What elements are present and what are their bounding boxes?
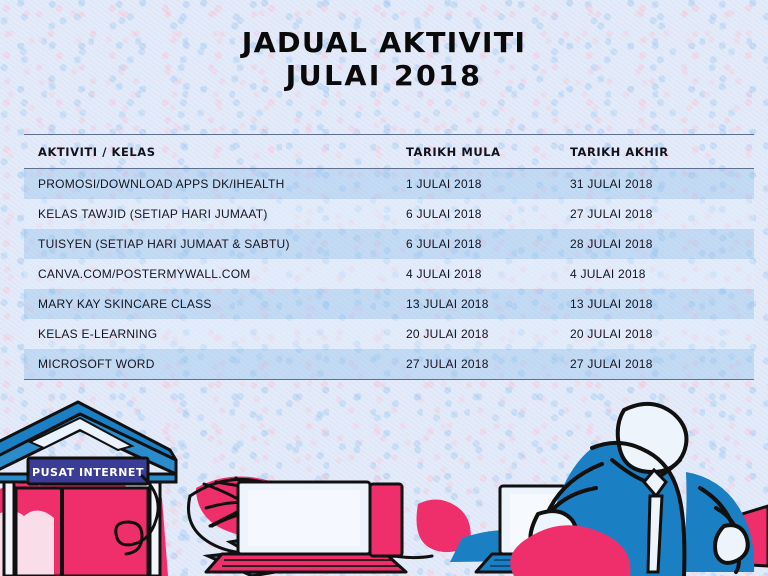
cell-end-date: 4 JULAI 2018 (556, 259, 754, 289)
cell-start-date: 6 JULAI 2018 (392, 229, 556, 259)
column-header-activity: AKTIVITI / KELAS (24, 135, 392, 169)
schedule-table: AKTIVITI / KELAS TARIKH MULA TARIKH AKHI… (24, 134, 754, 380)
poster-canvas: JADUAL AKTIVITI JULAI 2018 AKTIVITI / KE… (0, 0, 768, 576)
signboard-label: PUSAT INTERNET (32, 466, 144, 479)
title-line-1: JADUAL AKTIVITI (0, 26, 768, 59)
cell-end-date: 13 JULAI 2018 (556, 289, 754, 319)
cell-activity: MICROSOFT WORD (24, 349, 392, 380)
table-row: KELAS E-LEARNING 20 JULAI 2018 20 JULAI … (24, 319, 754, 349)
cell-end-date: 27 JULAI 2018 (556, 199, 754, 229)
pink-splash-left (0, 476, 168, 576)
column-header-end-date: TARIKH AKHIR (556, 135, 754, 169)
table-header-row: AKTIVITI / KELAS TARIKH MULA TARIKH AKHI… (24, 135, 754, 169)
table-body: PROMOSI/DOWNLOAD APPS DK/IHEALTH 1 JULAI… (24, 169, 754, 380)
table-row: KELAS TAWJID (SETIAP HARI JUMAAT) 6 JULA… (24, 199, 754, 229)
cell-start-date: 1 JULAI 2018 (392, 169, 556, 200)
table-row: MARY KAY SKINCARE CLASS 13 JULAI 2018 13… (24, 289, 754, 319)
table-row: CANVA.COM/POSTERMYWALL.COM 4 JULAI 2018 … (24, 259, 754, 289)
cell-activity: PROMOSI/DOWNLOAD APPS DK/IHEALTH (24, 169, 392, 200)
pink-laptop (206, 482, 471, 572)
cell-activity: MARY KAY SKINCARE CLASS (24, 289, 392, 319)
table-header: AKTIVITI / KELAS TARIKH MULA TARIKH AKHI… (24, 135, 754, 169)
cell-activity: CANVA.COM/POSTERMYWALL.COM (24, 259, 392, 289)
cell-start-date: 13 JULAI 2018 (392, 289, 556, 319)
cell-start-date: 4 JULAI 2018 (392, 259, 556, 289)
column-header-start-date: TARIKH MULA (392, 135, 556, 169)
cell-end-date: 31 JULAI 2018 (556, 169, 754, 200)
cell-activity: KELAS E-LEARNING (24, 319, 392, 349)
cell-activity: KELAS TAWJID (SETIAP HARI JUMAAT) (24, 199, 392, 229)
bottom-illustration: PUSAT INTERNET (0, 396, 768, 576)
cell-start-date: 27 JULAI 2018 (392, 349, 556, 380)
table-row: PROMOSI/DOWNLOAD APPS DK/IHEALTH 1 JULAI… (24, 169, 754, 200)
cell-start-date: 6 JULAI 2018 (392, 199, 556, 229)
cell-end-date: 28 JULAI 2018 (556, 229, 754, 259)
cell-end-date: 27 JULAI 2018 (556, 349, 754, 380)
title-line-2: JULAI 2018 (0, 59, 768, 92)
cell-start-date: 20 JULAI 2018 (392, 319, 556, 349)
cell-activity: TUISYEN (SETIAP HARI JUMAAT & SABTU) (24, 229, 392, 259)
table-row: MICROSOFT WORD 27 JULAI 2018 27 JULAI 20… (24, 349, 754, 380)
cell-end-date: 20 JULAI 2018 (556, 319, 754, 349)
table-row: TUISYEN (SETIAP HARI JUMAAT & SABTU) 6 J… (24, 229, 754, 259)
poster-title: JADUAL AKTIVITI JULAI 2018 (0, 26, 768, 92)
